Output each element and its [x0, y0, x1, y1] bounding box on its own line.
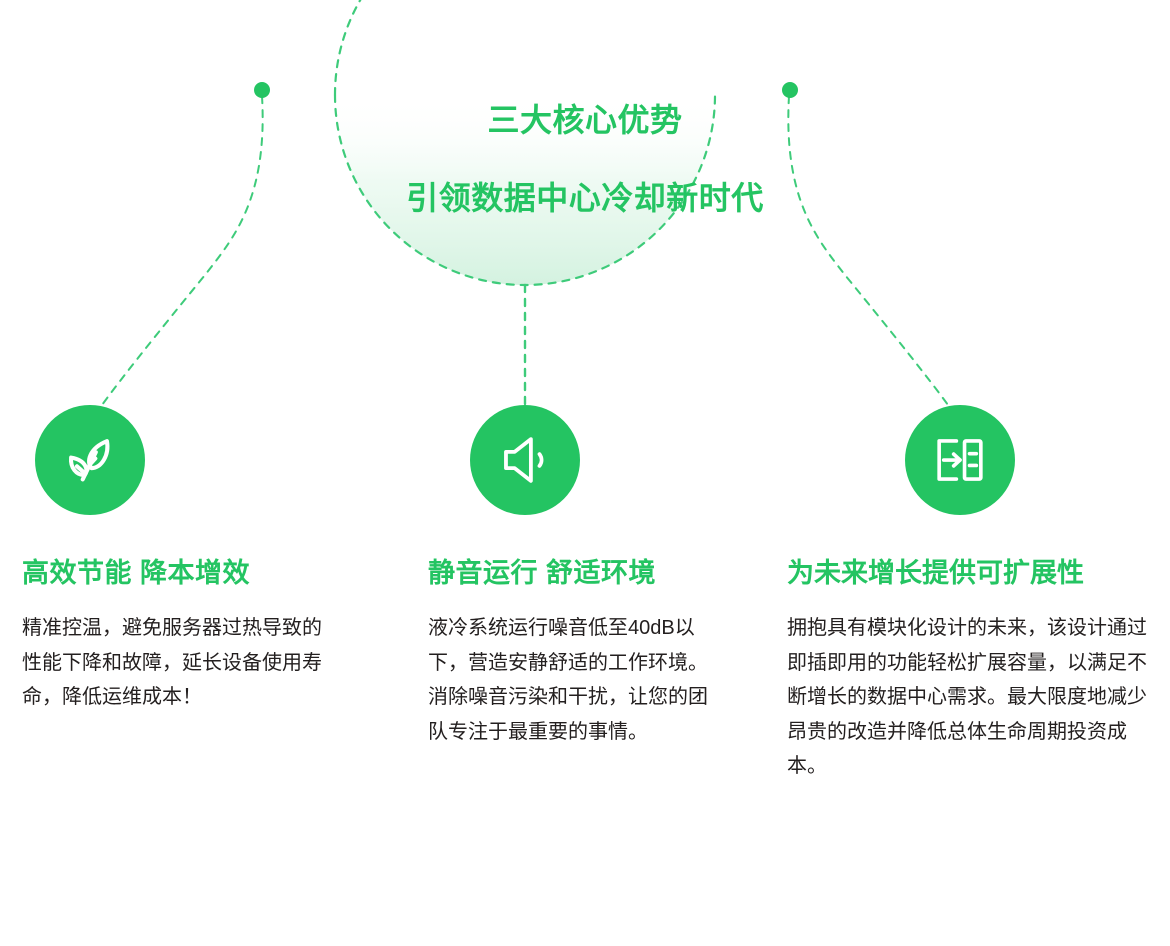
feature-paragraph: 精准控温，避免服务器过热导致的性能下降和故障，延长设备使用寿命，降低运维成本！	[22, 611, 340, 714]
page-title-line-2: 引领数据中心冷却新时代	[0, 179, 1170, 218]
speaker-volume-icon	[496, 431, 554, 489]
page-title: 三大核心优势 引领数据中心冷却新时代	[0, 62, 1170, 257]
feature-columns: 高效节能 降本增效 精准控温，避免服务器过热导致的性能下降和故障，延长设备使用寿…	[0, 405, 1170, 945]
feature-body-scalability: 拥抱具有模块化设计的未来，该设计通过即插即用的功能轻松扩展容量，以满足不断增长的…	[787, 611, 1147, 783]
infographic-page: 三大核心优势 引领数据中心冷却新时代 高效节能 降本增效 精准控温，避	[0, 0, 1170, 946]
sprout-leaf-icon	[59, 429, 121, 491]
feature-title-quiet: 静音运行 舒适环境	[428, 557, 778, 589]
sprout-leaf-icon-badge	[35, 405, 145, 515]
page-title-line-1: 三大核心优势	[0, 101, 1170, 140]
speaker-volume-icon-badge	[470, 405, 580, 515]
feature-body-quiet: 液冷系统运行噪音低至40dB以下，营造安静舒适的工作环境。 消除噪音污染和干扰，…	[428, 611, 720, 749]
feature-title-energy: 高效节能 降本增效	[22, 557, 372, 589]
feature-column-quiet: 静音运行 舒适环境 液冷系统运行噪音低至40dB以下，营造安静舒适的工作环境。 …	[428, 405, 778, 749]
expand-modules-icon-badge	[905, 405, 1015, 515]
feature-column-energy: 高效节能 降本增效 精准控温，避免服务器过热导致的性能下降和故障，延长设备使用寿…	[22, 405, 372, 715]
feature-paragraph: 拥抱具有模块化设计的未来，该设计通过即插即用的功能轻松扩展容量，以满足不断增长的…	[787, 611, 1147, 783]
feature-column-scalability: 为未来增长提供可扩展性 拥抱具有模块化设计的未来，该设计通过即插即用的功能轻松扩…	[787, 405, 1137, 783]
feature-paragraph: 液冷系统运行噪音低至40dB以下，营造安静舒适的工作环境。	[428, 611, 720, 680]
feature-body-energy: 精准控温，避免服务器过热导致的性能下降和故障，延长设备使用寿命，降低运维成本！	[22, 611, 340, 714]
feature-title-scalability: 为未来增长提供可扩展性	[787, 557, 1137, 589]
expand-modules-icon	[931, 431, 989, 489]
feature-paragraph: 消除噪音污染和干扰，让您的团队专注于最重要的事情。	[428, 680, 720, 749]
